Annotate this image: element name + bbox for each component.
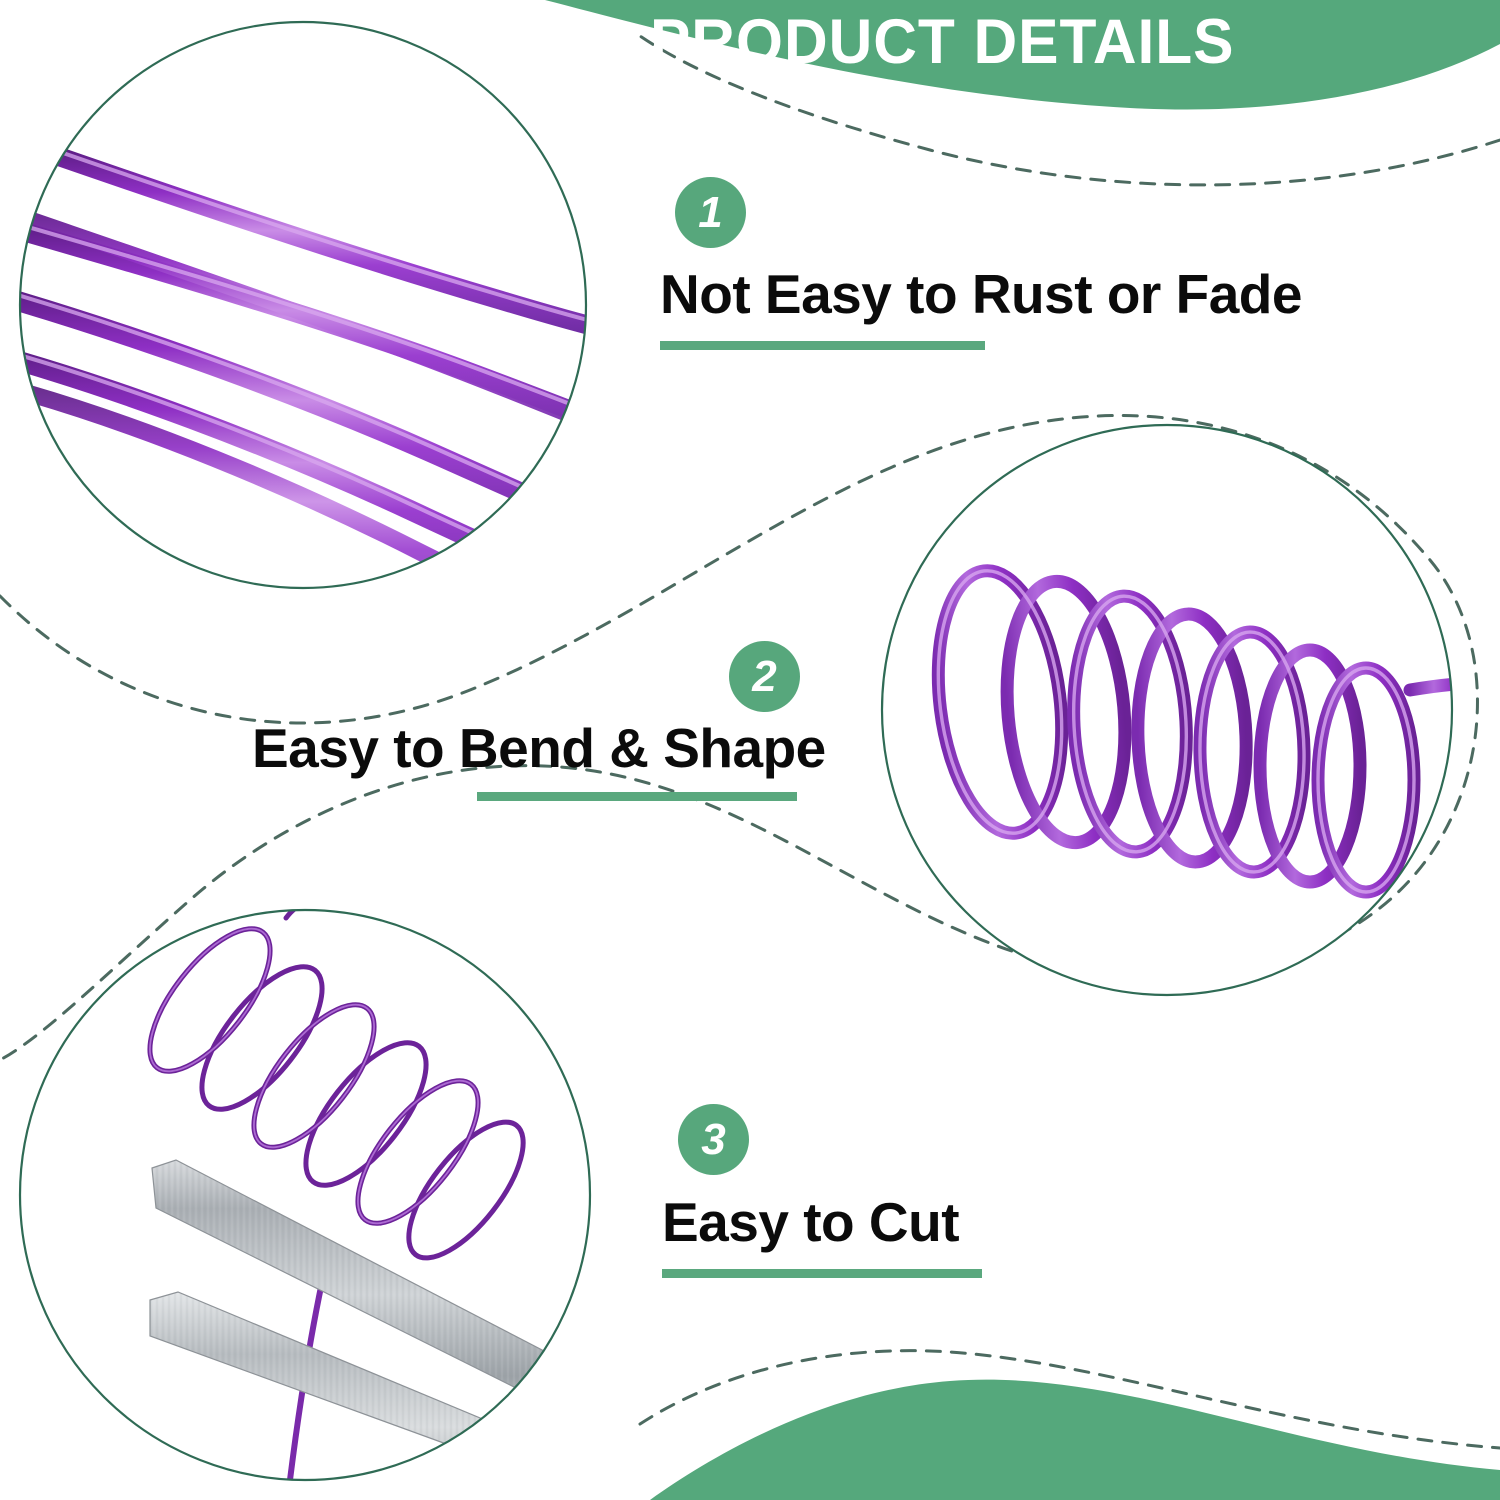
- feature-1-number: 1: [675, 177, 746, 248]
- feature-3-number-badge: 3: [678, 1104, 749, 1175]
- product-details-infographic: PRODUCT DETAILS 1 Not Easy to Rust or Fa…: [0, 0, 1500, 1500]
- feature-2-number: 2: [729, 641, 800, 712]
- page-title: PRODUCT DETAILS: [650, 2, 1284, 82]
- feature-2-title: Easy to Bend & Shape: [252, 716, 826, 780]
- feature-1-number-badge: 1: [675, 177, 746, 248]
- feature-2-underline: [477, 792, 797, 801]
- green-wave-bottom: [650, 1380, 1500, 1500]
- circle-wire-strands: [0, 22, 670, 658]
- feature-3-title: Easy to Cut: [662, 1190, 959, 1254]
- circle-scissors: [20, 904, 600, 1500]
- feature-1-underline: [660, 341, 985, 350]
- circle-wire-coil: [880, 424, 1478, 998]
- feature-2-number-badge: 2: [729, 641, 800, 712]
- feature-3-number: 3: [678, 1104, 749, 1175]
- feature-3-underline: [662, 1269, 982, 1278]
- feature-1-title: Not Easy to Rust or Fade: [660, 262, 1302, 326]
